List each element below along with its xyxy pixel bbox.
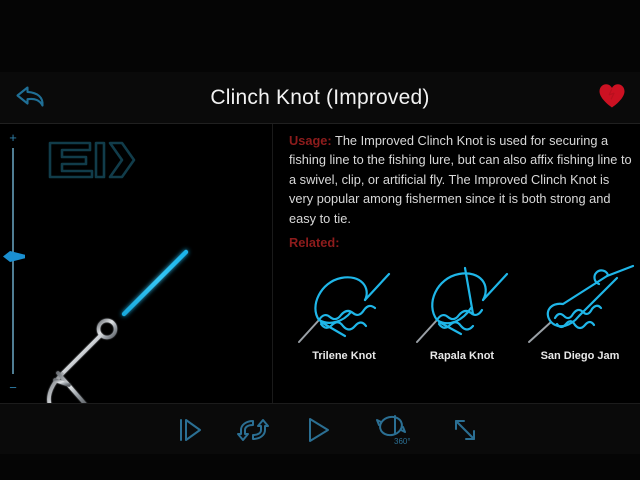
expand-arrows-icon	[451, 416, 479, 444]
loop-cycle-icon	[237, 415, 269, 445]
related-knot-trilene[interactable]: Trilene Knot	[285, 262, 403, 377]
usage-label: Usage:	[289, 133, 332, 148]
letterbox-top	[0, 0, 640, 72]
zoom-out-label[interactable]: −	[0, 382, 26, 394]
san-diego-jam-knot-thumb[interactable]	[521, 262, 639, 350]
related-knot-name: Rapala Knot	[403, 350, 521, 362]
knot-3d-model[interactable]	[28, 124, 272, 403]
app-header: Clinch Knot (Improved)	[0, 72, 640, 124]
related-knot-name: San Diego Jam	[521, 350, 639, 362]
related-knot-san-diego-jam[interactable]: San Diego Jam	[521, 262, 639, 377]
playback-toolbar: 360°	[0, 403, 640, 454]
favorite-button[interactable]	[590, 78, 634, 118]
rapala-knot-thumb[interactable]	[403, 262, 521, 350]
heart-icon	[598, 83, 626, 114]
usage-text: The Improved Clinch Knot is used for sec…	[289, 133, 632, 226]
fish-hook	[49, 321, 116, 404]
step-start-button[interactable]	[163, 406, 217, 453]
rotate-360-label: 360°	[394, 437, 410, 446]
letterbox-bottom	[0, 454, 640, 480]
fishing-line	[124, 252, 186, 314]
zoom-slider[interactable]: + −	[0, 132, 28, 394]
loop-button[interactable]	[226, 406, 280, 453]
step-to-start-icon	[175, 415, 205, 445]
trilene-knot-thumb[interactable]	[285, 262, 403, 350]
related-label: Related:	[289, 235, 340, 250]
content-area: + −	[0, 124, 640, 403]
usage-paragraph: Usage: The Improved Clinch Knot is used …	[289, 131, 634, 228]
rotate-360-icon: 360°	[374, 413, 410, 447]
app-screen: Clinch Knot (Improved) + −	[0, 72, 640, 454]
play-button[interactable]	[291, 406, 345, 453]
app-root: Clinch Knot (Improved) + −	[0, 0, 640, 480]
page-title: Clinch Knot (Improved)	[0, 72, 640, 123]
play-icon	[303, 415, 333, 445]
fullscreen-button[interactable]	[438, 406, 492, 453]
related-knots-list: Trilene Knot	[285, 262, 640, 377]
zoom-in-label[interactable]: +	[0, 132, 26, 144]
related-knot-name: Trilene Knot	[285, 350, 403, 362]
zoom-slider-handle[interactable]	[3, 251, 25, 262]
rotate-360-button[interactable]: 360°	[365, 406, 419, 453]
knot-info-pane: Usage: The Improved Clinch Knot is used …	[273, 124, 640, 403]
related-knot-rapala[interactable]: Rapala Knot	[403, 262, 521, 377]
knot-viewer-pane[interactable]: + −	[0, 124, 273, 403]
